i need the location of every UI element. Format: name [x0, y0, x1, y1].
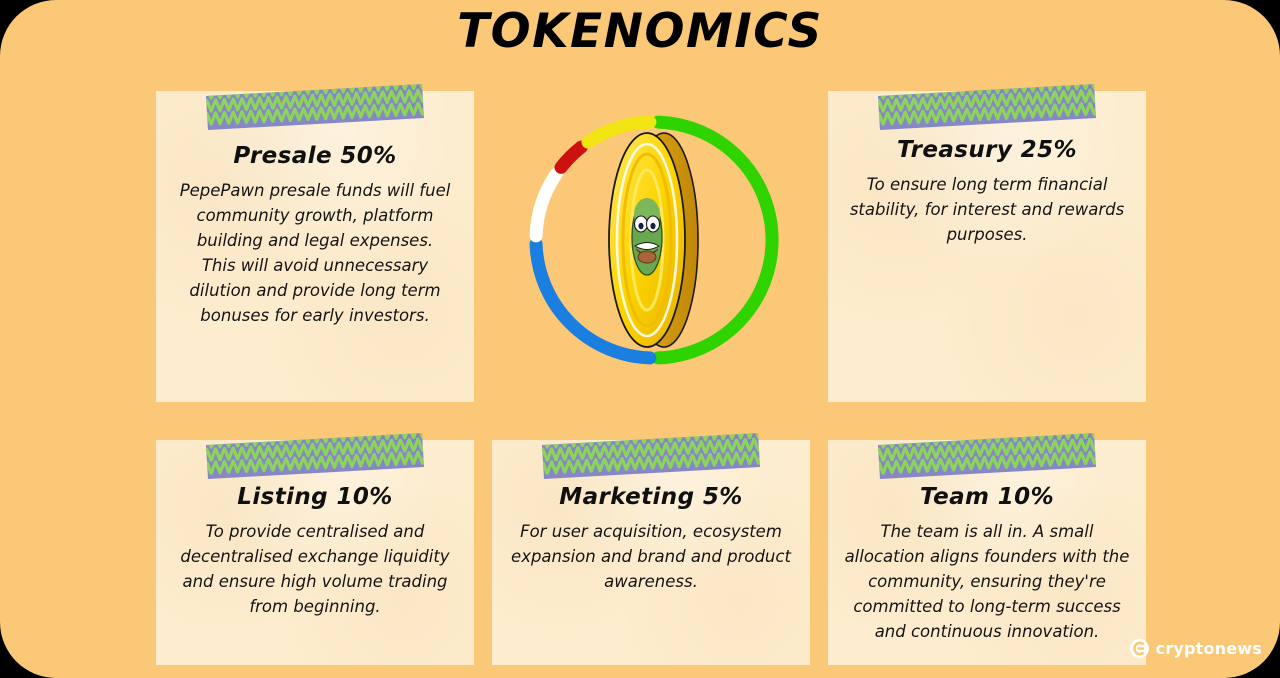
card-listing-text-1: To provide centralised and decentralised… [170, 519, 460, 619]
card-marketing-title: Marketing 5% [506, 484, 796, 510]
card-listing: Listing 10% To provide centralised and d… [156, 440, 474, 665]
card-treasury-title: Treasury 25% [842, 137, 1132, 163]
card-team-text-1: The team is all in. A small allocation a… [842, 519, 1132, 644]
card-presale-text-2: This will avoid unnecessary dilution and… [170, 253, 460, 328]
donut-segment-marketing [561, 147, 581, 167]
card-presale-text-1: PepePawn presale funds will fuel communi… [170, 178, 460, 253]
card-presale-title: Presale 50% [170, 143, 460, 169]
page-title: TOKENOMICS [0, 4, 1280, 59]
pepe-face-icon [632, 198, 662, 275]
card-listing-title: Listing 10% [170, 484, 460, 510]
card-treasury: Treasury 25% To ensure long term financi… [828, 91, 1146, 402]
card-team: Team 10% The team is all in. A small all… [828, 440, 1146, 665]
card-treasury-text-1: To ensure long term financial stability,… [842, 172, 1132, 247]
tokenomics-donut-chart [528, 110, 780, 370]
tokenomics-page: TOKENOMICS [0, 0, 1280, 678]
donut-segment-listing [536, 174, 556, 236]
cryptonews-c-icon [1130, 639, 1149, 658]
cryptonews-logo: cryptonews [1130, 639, 1262, 658]
card-marketing: Marketing 5% For user acquisition, ecosy… [492, 440, 810, 665]
card-team-title: Team 10% [842, 484, 1132, 510]
pepe-coin-icon [592, 129, 716, 351]
card-presale: Presale 50% PepePawn presale funds will … [156, 91, 474, 402]
cryptonews-logo-text: cryptonews [1156, 639, 1262, 658]
card-marketing-text-1: For user acquisition, ecosystem expansio… [506, 519, 796, 594]
